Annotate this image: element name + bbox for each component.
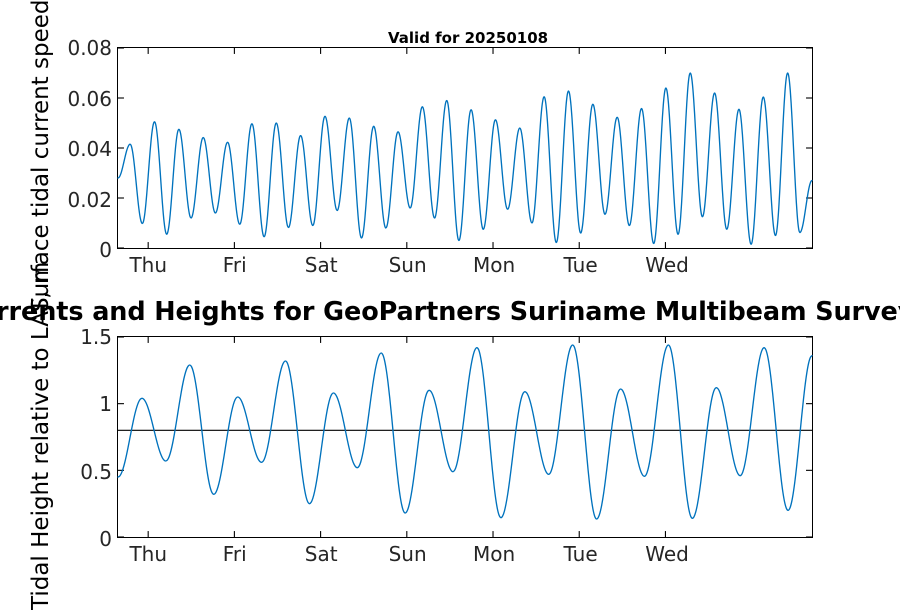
data-line <box>118 345 812 519</box>
x-tick-label: Mon <box>473 544 515 564</box>
y-tick-label: 0 <box>99 240 112 260</box>
data-line <box>118 73 812 244</box>
tidal-height-plot-area <box>118 337 812 537</box>
chart-subtitle: Valid for 20250108 <box>388 31 548 46</box>
y-tick-label: 1 <box>99 394 112 414</box>
y-tick-label: 0.04 <box>67 139 112 159</box>
y-tick-label: 0.06 <box>67 89 112 109</box>
y-tick-label: 0.5 <box>80 462 112 482</box>
page-title: urrents and Heights for GeoPartners Suri… <box>0 300 900 326</box>
x-tick-label: Thu <box>129 544 167 564</box>
x-tick-label: Fri <box>223 255 247 275</box>
x-tick-label: Thu <box>129 255 167 275</box>
x-tick-label: Wed <box>645 544 689 564</box>
y-tick-label: 0.02 <box>67 190 112 210</box>
x-tick-label: Sat <box>305 544 338 564</box>
tidal-current-speed-plot-area <box>118 48 812 248</box>
y-tick-label: 0.08 <box>67 38 112 58</box>
x-tick-label: Tue <box>563 544 597 564</box>
x-tick-label: Sun <box>389 255 427 275</box>
chart-tidal-current-speed: 00.020.040.060.08ThuFriSatSunMonTueWed <box>117 47 813 249</box>
x-tick-label: Mon <box>473 255 515 275</box>
chart-tidal-height: 00.511.5ThuFriSatSunMonTueWed <box>117 336 813 538</box>
y-tick-label: 1.5 <box>80 327 112 347</box>
x-tick-label: Wed <box>645 255 689 275</box>
x-tick-label: Fri <box>223 544 247 564</box>
tide-figure: 00.020.040.060.08ThuFriSatSunMonTueWed V… <box>0 0 900 600</box>
x-tick-label: Sat <box>305 255 338 275</box>
y-tick-label: 0 <box>99 529 112 549</box>
y-axis-label-tidal-height: Tidal Height relative to LAT, m <box>30 262 53 610</box>
x-tick-label: Sun <box>389 544 427 564</box>
x-tick-label: Tue <box>563 255 597 275</box>
